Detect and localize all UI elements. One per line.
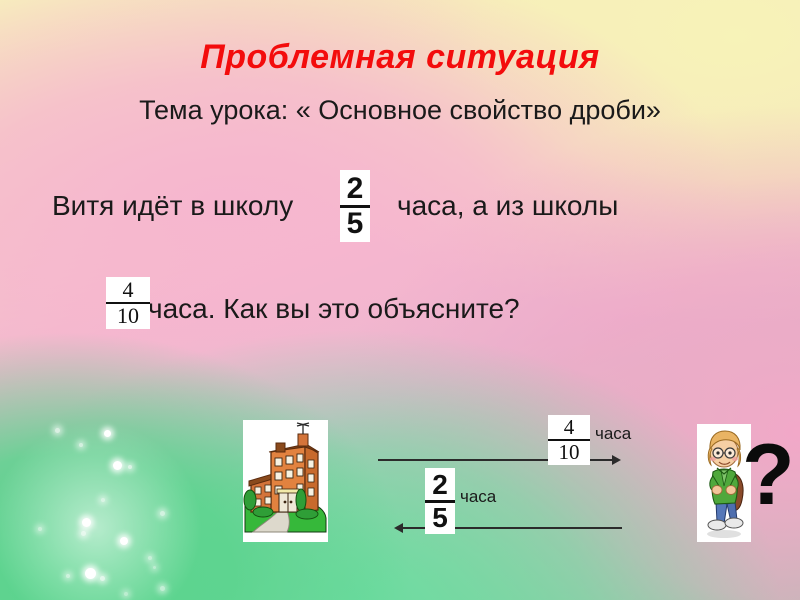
- sparkle-dot: [100, 576, 105, 581]
- sparkle-dot: [153, 566, 156, 569]
- fraction-denominator: 5: [347, 209, 364, 239]
- arrow-left-icon: [394, 523, 403, 533]
- sparkle-dot: [148, 556, 152, 560]
- problem-text-line1-before: Витя идёт в школу: [52, 190, 293, 222]
- sparkle-dot: [55, 428, 60, 433]
- school-building-icon: [243, 420, 328, 542]
- slide-subtitle: Тема урока: « Основное свойство дроби»: [0, 95, 800, 126]
- question-mark: ?: [742, 432, 795, 518]
- fraction-numerator: 4: [123, 279, 134, 301]
- sparkle-dot: [38, 527, 42, 531]
- fraction-two-fifths-diagram: 2 5: [425, 468, 455, 534]
- sparkle-dot: [128, 465, 132, 469]
- sparkle-dot: [120, 537, 128, 545]
- fraction-denominator: 10: [117, 305, 139, 327]
- sparkle-dot: [124, 592, 128, 596]
- sparkle-dot: [85, 568, 96, 579]
- slide-title: Проблемная ситуация: [0, 38, 800, 77]
- slide-canvas: Проблемная ситуация Тема урока: « Основн…: [0, 0, 800, 600]
- fraction-denominator: 10: [559, 442, 580, 463]
- sparkle-dot: [66, 574, 70, 578]
- school-building-image: [243, 420, 328, 542]
- sparkle-dot: [160, 586, 165, 591]
- sparkle-dot: [160, 511, 165, 516]
- sparkle-dot: [79, 443, 83, 447]
- label-hours-top: часа: [595, 424, 631, 444]
- problem-text-line1-after: часа, а из школы: [397, 190, 618, 222]
- arrow-right-icon: [612, 455, 621, 465]
- fraction-four-tenths-inline: 4 10: [106, 277, 150, 329]
- label-hours-bottom: часа: [460, 487, 496, 507]
- fraction-numerator: 2: [347, 174, 364, 204]
- sparkle-dot: [104, 430, 111, 437]
- fraction-four-tenths-diagram: 4 10: [548, 415, 590, 465]
- sparkle-dot: [101, 498, 105, 502]
- fraction-numerator: 4: [564, 417, 575, 438]
- sparkle-dot: [81, 531, 86, 536]
- sparkle-dot: [113, 461, 122, 470]
- fraction-denominator: 5: [432, 504, 448, 532]
- fraction-two-fifths-inline: 2 5: [340, 170, 370, 242]
- problem-text-line2-after: часа. Как вы это объясните?: [148, 293, 520, 325]
- fraction-numerator: 2: [432, 471, 448, 499]
- sparkle-dot: [82, 518, 91, 527]
